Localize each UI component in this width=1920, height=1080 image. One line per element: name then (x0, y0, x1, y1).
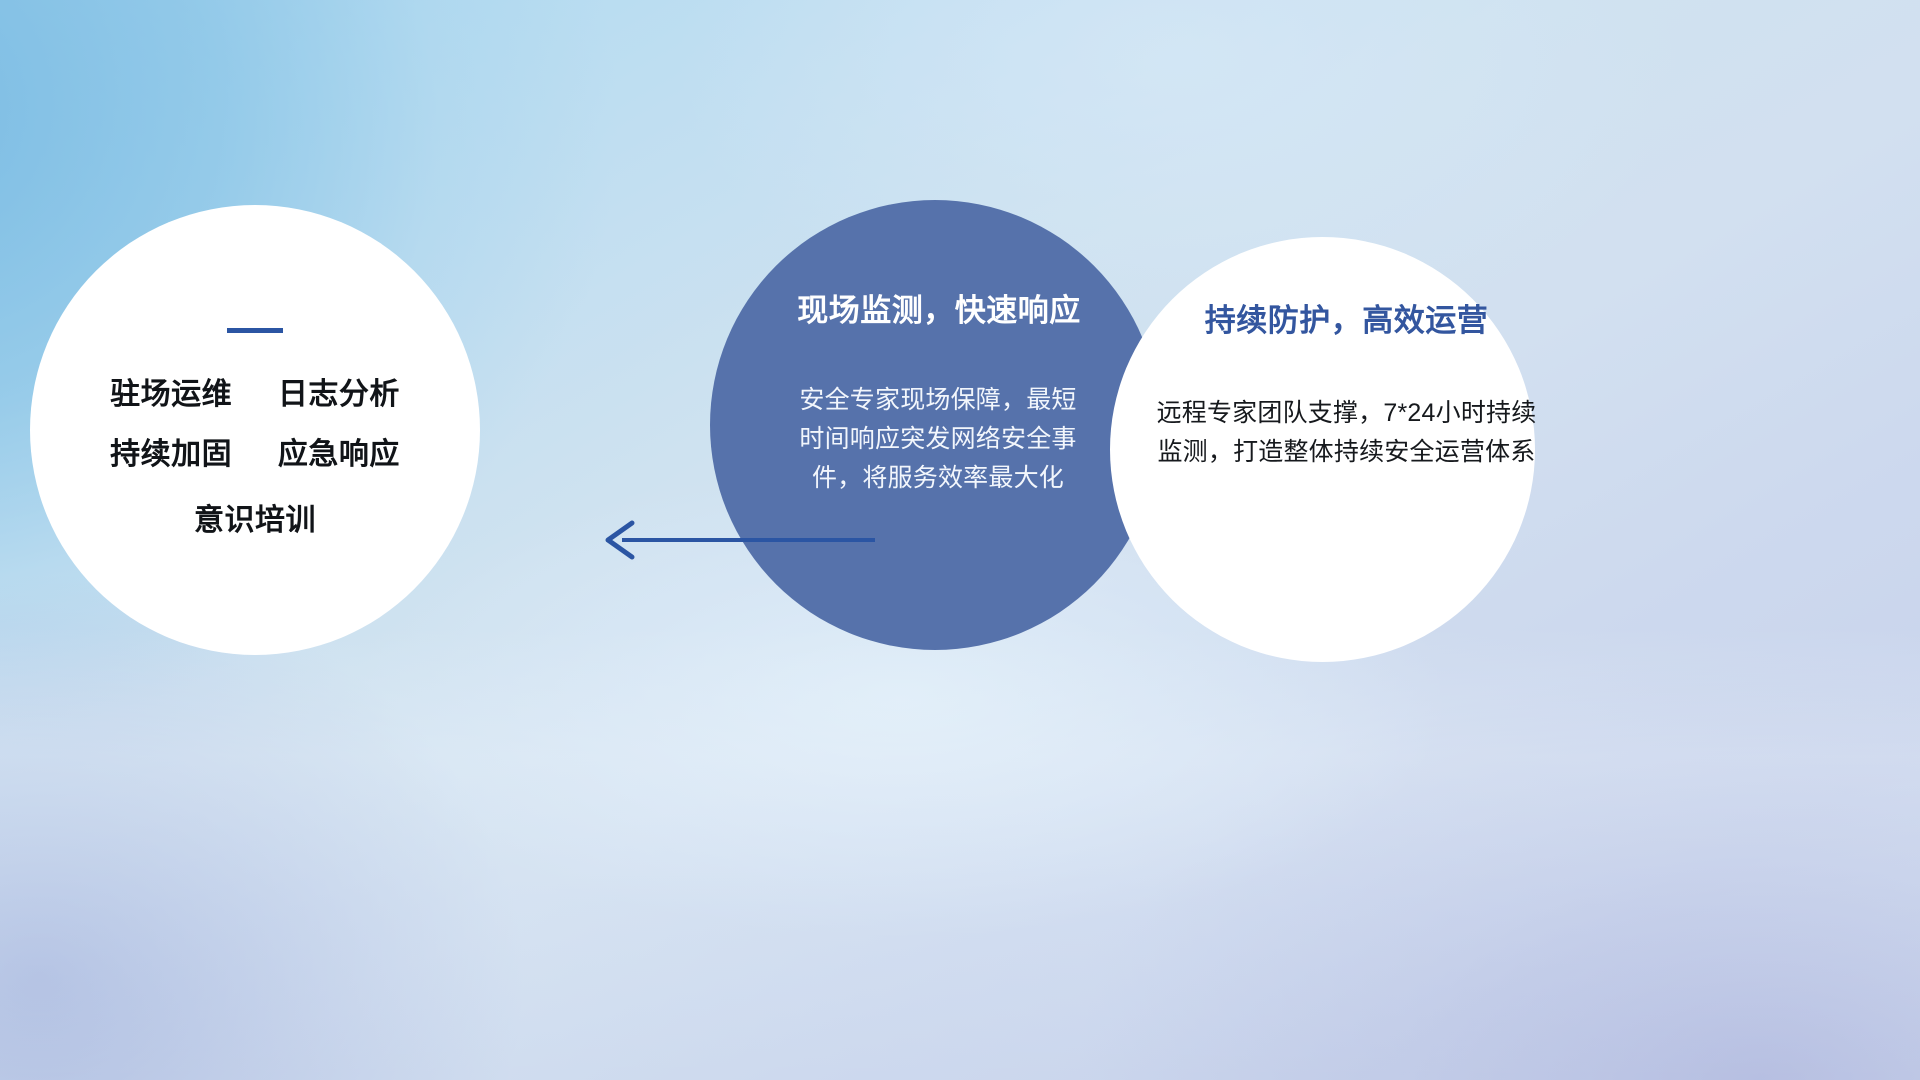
right-circle-body: 远程专家团队支撑，7*24小时持续监测，打造整体持续安全运营体系 (1147, 394, 1547, 472)
keyword-row-1: 驻场运维 日志分析 (110, 379, 400, 411)
right-circle-content: 持续防护，高效运营 远程专家团队支撑，7*24小时持续监测，打造整体持续安全运营… (1110, 237, 1535, 662)
left-circle-content: 驻场运维 日志分析 持续加固 应急响应 意识培训 (30, 205, 480, 655)
middle-circle-title: 现场监测，快速响应 (797, 285, 1081, 330)
keyword-row-2: 持续加固 应急响应 (110, 439, 400, 471)
keyword-rizhi-fenxi: 日志分析 (278, 378, 400, 411)
right-circle-title: 持续防护，高效运营 (1205, 295, 1489, 340)
keyword-yingji-xiangying: 应急响应 (278, 438, 400, 471)
left-arrow-icon (590, 510, 880, 570)
keyword-zhuchang-yunwei: 驻场运维 (110, 378, 232, 411)
keyword-chixu-jiagu: 持续加固 (110, 438, 232, 471)
slide-canvas: 驻场运维 日志分析 持续加固 应急响应 意识培训 现场监测，快速响应 安全专家现… (0, 0, 1920, 1080)
keyword-yishi-peixun: 意识培训 (194, 504, 316, 537)
middle-circle-body: 安全专家现场保障，最短时间响应突发网络安全事件，将服务效率最大化 (788, 381, 1088, 498)
middle-circle-content: 现场监测，快速响应 安全专家现场保障，最短时间响应突发网络安全事件，将服务效率最… (710, 200, 1160, 650)
divider-dash (227, 328, 283, 333)
left-white-circle[interactable]: 驻场运维 日志分析 持续加固 应急响应 意识培训 (30, 205, 480, 655)
keyword-row-3: 意识培训 (194, 505, 316, 537)
